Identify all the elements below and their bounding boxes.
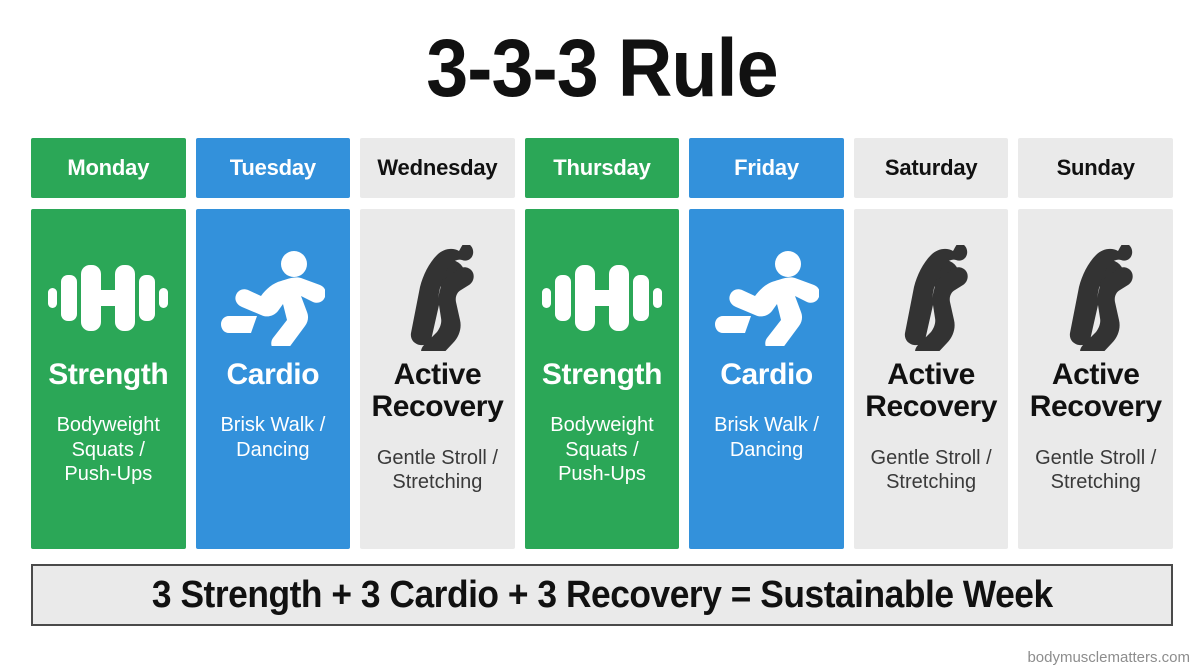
card-desc-line: Push-Ups (64, 463, 152, 485)
footer-attribution: bodymusclematters.com (1027, 649, 1190, 666)
infographic-root: 3-3-3 Rule Monday Tuesday Wednesday Thur… (0, 0, 1204, 672)
card-desc-line: Brisk Walk / (220, 414, 325, 436)
day-card-monday: Strength Bodyweight Squats / Push-Ups (31, 209, 186, 549)
card-title: Cardio (716, 359, 817, 391)
day-header-monday: Monday (31, 138, 186, 198)
card-title: Active Recovery (861, 359, 1001, 424)
day-header-label: Friday (734, 155, 799, 181)
day-header-label: Tuesday (230, 155, 316, 181)
card-title: Active Recovery (367, 359, 507, 424)
card-title: Active Recovery (1026, 359, 1166, 424)
card-title-line: Cardio (720, 358, 813, 391)
card-title-line: Strength (48, 358, 168, 391)
card-desc-line: Squats / (72, 439, 145, 461)
card-desc-line: Squats / (565, 439, 638, 461)
day-cards-row: Strength Bodyweight Squats / Push-Ups (0, 209, 1204, 549)
card-description: Gentle Stroll / Stretching (1029, 446, 1162, 495)
card-title-line: Active (1052, 358, 1140, 391)
day-header-wednesday: Wednesday (360, 138, 515, 198)
day-card-friday: Cardio Brisk Walk / Dancing (689, 209, 844, 549)
dumbbell-icon (542, 243, 662, 353)
running-person-icon (221, 243, 325, 353)
page-title: 3-3-3 Rule (426, 28, 777, 110)
card-desc-line: Bodyweight (550, 414, 653, 436)
card-description: Gentle Stroll / Stretching (865, 446, 998, 495)
card-desc-line: Dancing (236, 439, 309, 461)
day-card-thursday: Strength Bodyweight Squats / Push-Ups (525, 209, 680, 549)
card-title-line: Strength (542, 358, 662, 391)
card-title: Strength (44, 359, 172, 391)
card-title-line: Active (394, 358, 482, 391)
card-desc-line: Stretching (886, 471, 976, 493)
stretching-person-icon (395, 243, 479, 353)
card-desc-line: Push-Ups (558, 463, 646, 485)
card-title-line: Recovery (371, 390, 503, 423)
card-title-line: Recovery (865, 390, 997, 423)
card-description: Bodyweight Squats / Push-Ups (51, 413, 166, 486)
day-header-tuesday: Tuesday (196, 138, 351, 198)
card-description: Bodyweight Squats / Push-Ups (544, 413, 659, 486)
day-header-saturday: Saturday (854, 138, 1009, 198)
day-header-friday: Friday (689, 138, 844, 198)
card-description: Brisk Walk / Dancing (708, 413, 825, 462)
stretching-person-icon (1054, 243, 1138, 353)
day-header-label: Thursday (553, 155, 650, 181)
day-card-sunday: Active Recovery Gentle Stroll / Stretchi… (1018, 209, 1173, 549)
running-person-icon (715, 243, 819, 353)
day-header-label: Saturday (885, 155, 978, 181)
card-title-line: Recovery (1030, 390, 1162, 423)
day-header-label: Sunday (1057, 155, 1135, 181)
day-header-row: Monday Tuesday Wednesday Thursday Friday… (0, 138, 1204, 198)
card-desc-line: Brisk Walk / (714, 414, 819, 436)
card-title: Cardio (223, 359, 324, 391)
day-card-tuesday: Cardio Brisk Walk / Dancing (196, 209, 351, 549)
card-title: Strength (538, 359, 666, 391)
card-title-line: Active (887, 358, 975, 391)
card-desc-line: Bodyweight (57, 414, 160, 436)
card-desc-line: Gentle Stroll / (871, 447, 992, 469)
dumbbell-icon (48, 243, 168, 353)
card-description: Gentle Stroll / Stretching (371, 446, 504, 495)
card-desc-line: Dancing (730, 439, 803, 461)
summary-banner: 3 Strength + 3 Cardio + 3 Recovery = Sus… (31, 564, 1173, 626)
day-card-wednesday: Active Recovery Gentle Stroll / Stretchi… (360, 209, 515, 549)
title-container: 3-3-3 Rule (0, 0, 1204, 138)
day-card-saturday: Active Recovery Gentle Stroll / Stretchi… (854, 209, 1009, 549)
day-header-label: Monday (67, 155, 149, 181)
day-header-thursday: Thursday (525, 138, 680, 198)
card-desc-line: Gentle Stroll / (1035, 447, 1156, 469)
card-desc-line: Gentle Stroll / (377, 447, 498, 469)
card-title-line: Cardio (227, 358, 320, 391)
card-desc-line: Stretching (392, 471, 482, 493)
card-desc-line: Stretching (1051, 471, 1141, 493)
summary-text: 3 Strength + 3 Cardio + 3 Recovery = Sus… (152, 574, 1053, 617)
card-description: Brisk Walk / Dancing (214, 413, 331, 462)
stretching-person-icon (889, 243, 973, 353)
day-header-sunday: Sunday (1018, 138, 1173, 198)
day-header-label: Wednesday (377, 155, 497, 181)
